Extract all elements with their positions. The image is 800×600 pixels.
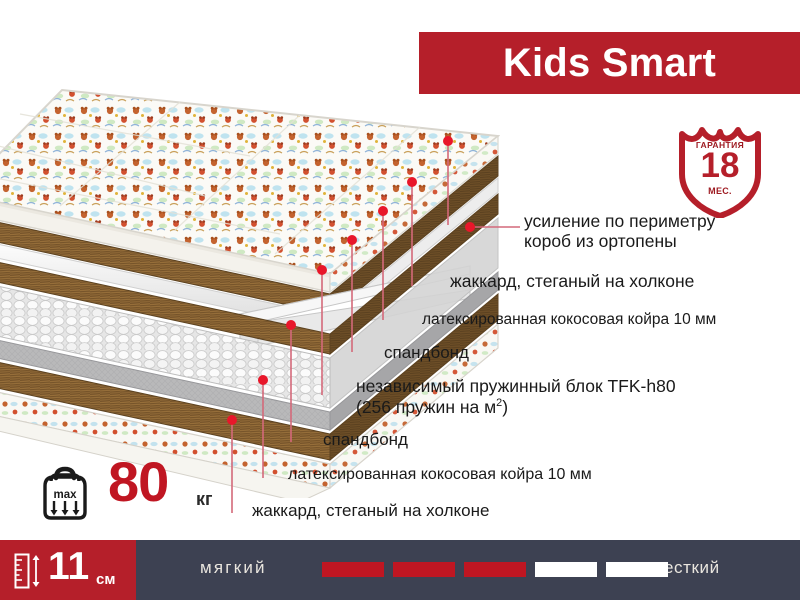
warranty-badge: ГАРАНТИЯ 18 МЕС. — [672, 118, 768, 218]
height-block: 11 см — [0, 540, 136, 600]
callout-jacquard-top: жаккард, стеганый на холконе — [450, 272, 694, 292]
height-value: 11 — [48, 547, 89, 586]
callout-coir-bottom: латексированная кокосовая койра 10 мм — [288, 466, 592, 484]
ruler-icon — [14, 553, 44, 589]
firmness-segment-5 — [606, 562, 668, 577]
page-title: Kids Smart — [503, 43, 716, 83]
callout-perimeter-reinforcement: усиление по периметру короб из ортопены — [524, 212, 715, 251]
callout-spandbond-bottom: спандбонд — [323, 430, 408, 449]
firmness-segment-4 — [535, 562, 597, 577]
callout-jacquard-bottom: жаккард, стеганый на холконе — [252, 501, 489, 520]
svg-text:max: max — [53, 489, 77, 501]
max-weight-block: max 80 кг — [34, 462, 234, 524]
callout-spandbond-top: спандбонд — [384, 343, 469, 362]
height-unit: см — [96, 571, 115, 588]
firmness-soft-label: мягкий — [200, 558, 267, 578]
warranty-unit: МЕС. — [672, 186, 768, 196]
mattress-illustration — [0, 78, 500, 498]
infographic-canvas: Kids Smart ГАРАНТИЯ 18 МЕС. — [0, 0, 800, 600]
callout-spring-block: независимый пружинный блок TFK-h80 (256 … — [356, 377, 676, 417]
firmness-scale — [322, 562, 668, 577]
firmness-segment-3 — [464, 562, 526, 577]
kettlebell-icon: max — [34, 462, 96, 524]
callout-coir-top: латексированная кокосовая койра 10 мм — [422, 311, 716, 328]
max-weight-unit: кг — [196, 489, 213, 510]
firmness-segment-1 — [322, 562, 384, 577]
firmness-segment-2 — [393, 562, 455, 577]
max-weight-value: 80 — [108, 454, 168, 510]
warranty-number: 18 — [672, 148, 768, 183]
